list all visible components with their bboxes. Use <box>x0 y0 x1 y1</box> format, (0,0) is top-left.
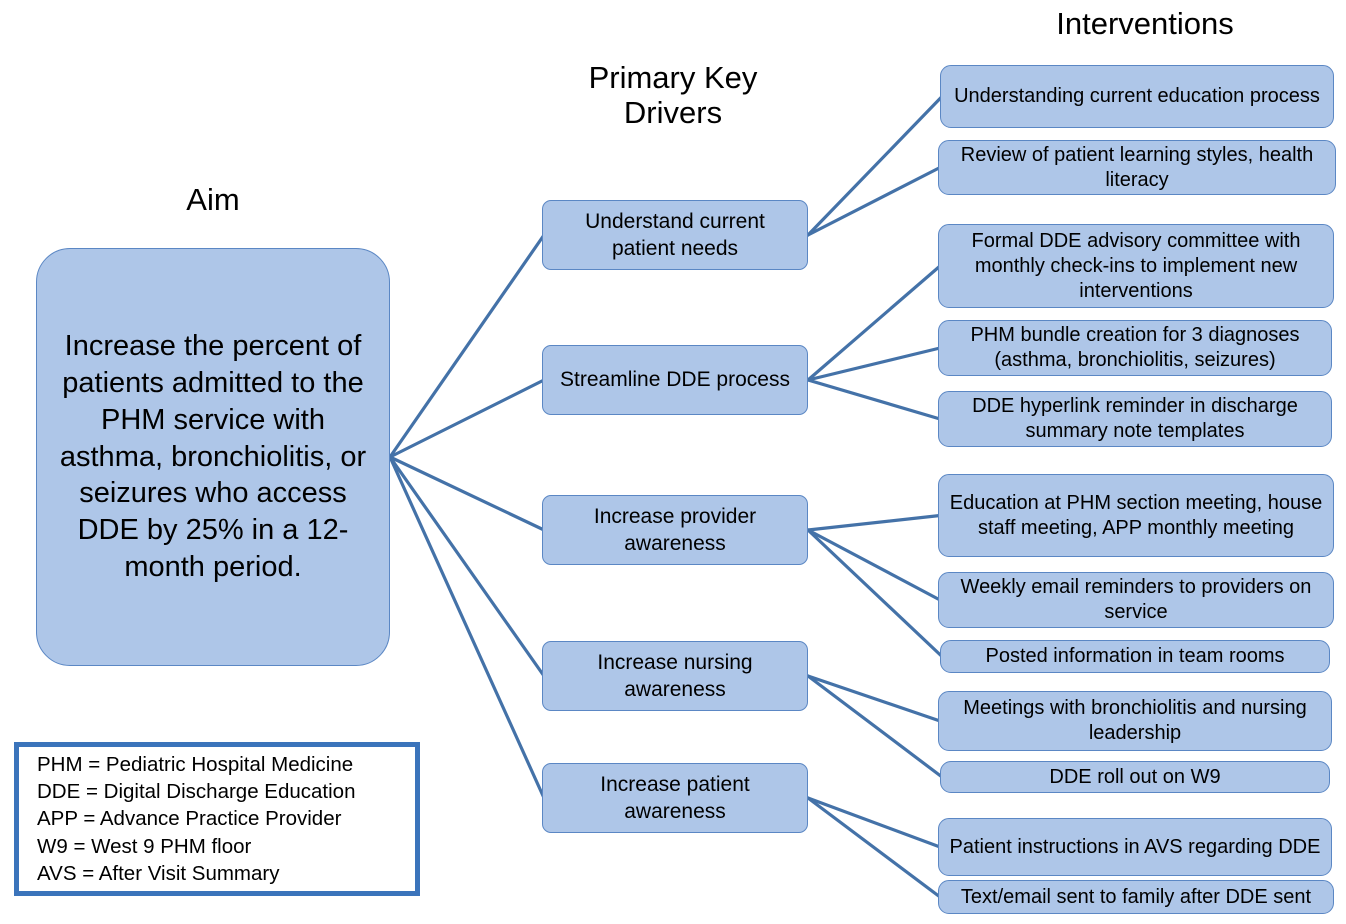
intervention-box-dde-hyperlink-reminder: DDE hyperlink reminder in discharge summ… <box>938 391 1332 447</box>
driver-box-streamline-dde-process: Streamline DDE process <box>542 345 808 415</box>
driver-box-increase-patient-awareness: Increase patient awareness <box>542 763 808 833</box>
intervention-box-patient-instructions-in-avs: Patient instructions in AVS regarding DD… <box>938 818 1332 876</box>
connector-increase-nursing-awareness-to-meetings-with-bronchiolitis-nursing-leadership <box>808 676 940 721</box>
connector-aim-to-understand-current-patient-needs <box>390 235 544 457</box>
connector-aim-to-streamline-dde-process <box>390 380 544 457</box>
intervention-box-review-of-patient-learning-styles: Review of patient learning styles, healt… <box>938 140 1336 195</box>
column-title-aim: Aim <box>88 182 338 217</box>
connector-increase-provider-awareness-to-posted-information-in-team-rooms <box>808 530 942 657</box>
column-title-interventions: Interventions <box>1010 6 1280 41</box>
connector-increase-provider-awareness-to-education-at-phm-section-meeting <box>808 516 940 531</box>
intervention-box-formal-dde-advisory-committee: Formal DDE advisory committee with month… <box>938 224 1334 308</box>
key-driver-diagram: Aim Primary Key Drivers Interventions In… <box>0 0 1346 924</box>
legend-abbreviations: PHM = Pediatric Hospital Medicine DDE = … <box>19 751 355 886</box>
driver-box-understand-current-patient-needs: Understand current patient needs <box>542 200 808 270</box>
driver-box-increase-provider-awareness: Increase provider awareness <box>542 495 808 565</box>
legend-box: PHM = Pediatric Hospital Medicine DDE = … <box>14 742 420 896</box>
intervention-box-dde-roll-out-on-w9: DDE roll out on W9 <box>940 761 1330 793</box>
connector-increase-provider-awareness-to-weekly-email-reminders <box>808 530 940 600</box>
connector-streamline-dde-process-to-formal-dde-advisory-committee <box>808 266 940 380</box>
aim-box: Increase the percent of patients admitte… <box>36 248 390 666</box>
intervention-box-posted-information-in-team-rooms: Posted information in team rooms <box>940 640 1330 673</box>
connector-aim-to-increase-nursing-awareness <box>390 457 544 676</box>
column-title-primary-key-drivers: Primary Key Drivers <box>528 60 818 130</box>
connector-increase-nursing-awareness-to-dde-roll-out-on-w9 <box>808 676 942 777</box>
intervention-box-text-email-sent-to-family: Text/email sent to family after DDE sent <box>938 880 1334 914</box>
driver-box-increase-nursing-awareness: Increase nursing awareness <box>542 641 808 711</box>
intervention-box-meetings-with-bronchiolitis-nursing-leadership: Meetings with bronchiolitis and nursing … <box>938 691 1332 751</box>
intervention-box-education-at-phm-section-meeting: Education at PHM section meeting, house … <box>938 474 1334 557</box>
connector-aim-to-increase-provider-awareness <box>390 457 544 530</box>
intervention-box-phm-bundle-creation: PHM bundle creation for 3 diagnoses (ast… <box>938 320 1332 376</box>
intervention-box-weekly-email-reminders: Weekly email reminders to providers on s… <box>938 572 1334 628</box>
connector-increase-patient-awareness-to-patient-instructions-in-avs <box>808 798 940 847</box>
connector-understand-current-patient-needs-to-understanding-current-education-process <box>808 97 942 236</box>
connector-increase-patient-awareness-to-text-email-sent-to-family <box>808 798 940 897</box>
connector-streamline-dde-process-to-dde-hyperlink-reminder <box>808 380 940 419</box>
intervention-box-understanding-current-education-process: Understanding current education process <box>940 65 1334 128</box>
connector-streamline-dde-process-to-phm-bundle-creation <box>808 348 940 380</box>
connector-understand-current-patient-needs-to-review-of-patient-learning-styles <box>808 168 940 236</box>
